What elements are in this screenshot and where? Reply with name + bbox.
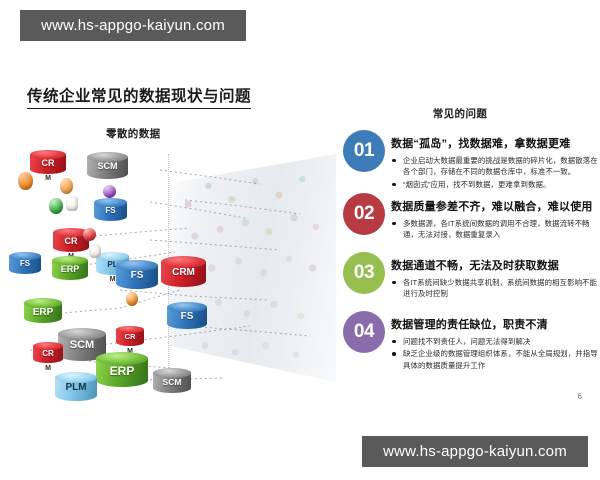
db-cylinder-erp-2: ERP [24,298,62,326]
db-cylinder-fs-2: FS [9,252,41,276]
db-cylinder-erp-1: ERP [52,256,88,282]
app-icon-red-circle [83,228,96,241]
bullet: “烟囱式”应用，找不到数据，更难拿到数据。 [391,179,598,190]
db-cylinder-scm-1: SCM [87,152,128,182]
issue-title-03: 数据通道不畅，无法及时获取数据 [391,252,598,274]
issue-item-02[interactable]: 02 数据质量参差不齐，难以融合，难以使用 多数据源，各IT系统间数据的调用不合… [343,193,598,249]
issue-badge-01: 01 [343,130,385,172]
scattered-data-diagram: CR M SCM FS CR M FS ERP PL M [0,140,340,390]
issue-title-04: 数据管理的责任缺位，职责不清 [391,311,598,333]
issue-bullets-03: 各IT系统间缺少数据共享机制，系统间数据的相互影响不能进行及时控制 [391,277,598,300]
db-cylinder-plm-2: PLM [55,372,97,404]
issue-title-02: 数据质量参差不齐，难以融合，难以使用 [391,193,598,215]
app-icon-red-doc [66,196,78,211]
app-icon-white-1 [89,244,101,258]
db-cylinder-crm-4: CR M [33,342,63,365]
db-cylinder-fs-4: FS [167,302,207,332]
issue-bullets-04: 问题找不到责任人，问题无法得到解决 缺乏企业级的数据管理组织体系，不能从全局规划… [391,336,598,371]
issue-bullets-01: 企业启动大数据最重要的挑战是数据的碎片化，数据散落在各个部门，存储在不同的数据仓… [391,155,598,190]
bullet: 企业启动大数据最重要的挑战是数据的碎片化，数据散落在各个部门，存储在不同的数据仓… [391,155,598,178]
bullet: 问题找不到责任人，问题无法得到解决 [391,336,598,347]
issue-badge-02: 02 [343,193,385,235]
db-cylinder-crm-3: CRM [161,256,206,290]
app-icon-orange-3 [126,292,138,306]
db-cylinder-crm-1: CR M [30,150,66,176]
issue-item-03[interactable]: 03 数据通道不畅，无法及时获取数据 各IT系统间缺少数据共享机制，系统间数据的… [343,252,598,308]
db-cylinder-erp-3: ERP [96,352,148,390]
issue-bullets-02: 多数据源，各IT系统间数据的调用不合理，数据流转不畅通，无法对接，数据重复录入 [391,218,598,241]
bullet: 多数据源，各IT系统间数据的调用不合理，数据流转不畅通，无法对接，数据重复录入 [391,218,598,241]
page-number: 6 [578,392,582,401]
bullet: 各IT系统间缺少数据共享机制，系统间数据的相互影响不能进行及时控制 [391,277,598,300]
page-title: 传统企业常见的数据现状与问题 [27,84,251,109]
issue-badge-04: 04 [343,311,385,353]
db-cylinder-scm-3: SCM [153,368,191,396]
issue-badge-03: 03 [343,252,385,294]
issue-item-01[interactable]: 01 数据“孤岛”，找数据难，拿数据更难 企业启动大数据最重要的挑战是数据的碎片… [343,130,598,190]
app-icon-purple-1 [103,185,116,198]
bullet: 缺乏企业级的数据管理组织体系，不能从全局规划，并指导具体的数据质量提升工作 [391,348,598,371]
db-cylinder-crm-5: CR M [116,326,144,348]
db-cylinder-fs-3: FS [116,260,158,292]
left-panel-label: 零散的数据 [106,126,161,141]
watermark-top: www.hs-appgo-kaiyun.com [20,10,246,41]
db-cylinder-fs-1: FS [94,198,127,223]
app-icon-green-lock [49,198,63,214]
issue-item-04[interactable]: 04 数据管理的责任缺位，职责不清 问题找不到责任人，问题无法得到解决 缺乏企业… [343,311,598,371]
issues-list: 01 数据“孤岛”，找数据难，拿数据更难 企业启动大数据最重要的挑战是数据的碎片… [343,130,598,374]
issue-title-01: 数据“孤岛”，找数据难，拿数据更难 [391,130,598,152]
watermark-bottom: www.hs-appgo-kaiyun.com [362,436,588,467]
issues-heading: 常见的问题 [433,106,488,121]
